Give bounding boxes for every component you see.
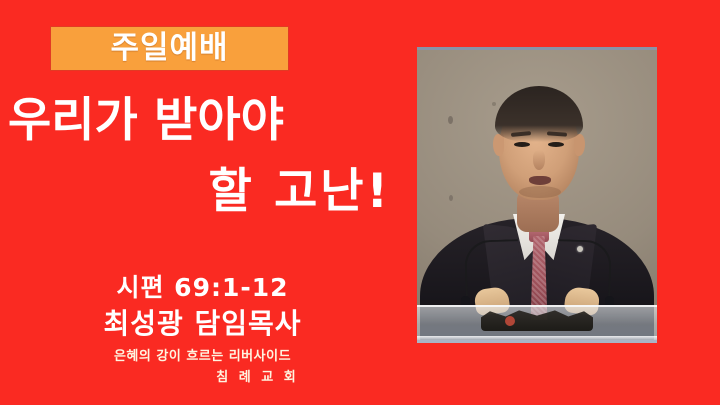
- podium-edge-highlight: [417, 336, 657, 341]
- church-name-line-2: 침 례 교 회: [0, 370, 405, 387]
- wall-mark-icon: [449, 195, 453, 201]
- speaker-nose: [533, 150, 545, 170]
- sermon-title-block: 우리가 받아야 할 고난!: [0, 96, 400, 218]
- speaker-ear-left: [493, 134, 504, 156]
- speaker-photo: [417, 47, 657, 343]
- wall-mark-icon: [448, 116, 453, 124]
- category-banner-label: 주일예배: [110, 33, 228, 64]
- podium-base-shadow: [417, 341, 657, 343]
- speaker-name: 최성광 담임목사: [0, 306, 405, 341]
- church-name-line-1: 은혜의 강이 흐르는 리버사이드: [0, 349, 405, 366]
- sermon-title-line-1: 우리가 받아야: [0, 96, 400, 147]
- speaker-eye-left: [514, 142, 530, 147]
- sermon-title-line-2: 할 고난!: [0, 167, 400, 218]
- speaker-chin-shadow: [519, 186, 561, 198]
- scripture-reference: 시편 69:1-12: [0, 272, 405, 303]
- category-banner: 주일예배: [51, 27, 288, 70]
- speaker-mouth: [529, 176, 551, 185]
- sermon-meta-block: 시편 69:1-12 최성광 담임목사 은혜의 강이 흐르는 리버사이드 침 례…: [0, 272, 405, 387]
- wall-mark-icon: [492, 102, 496, 106]
- sermon-title-slide: 주일예배 우리가 받아야 할 고난! 시편 69:1-12 최성광 담임목사 은…: [0, 0, 720, 405]
- speaker-eye-right: [548, 142, 564, 147]
- podium-emblem-mark-icon: [505, 316, 515, 326]
